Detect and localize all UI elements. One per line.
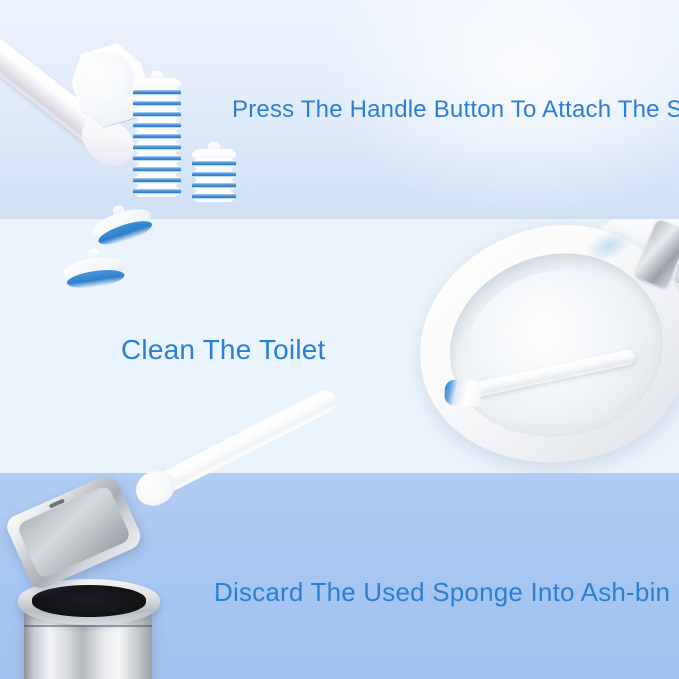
- sponge-disc: [133, 98, 181, 109]
- sponge-disc: [192, 191, 236, 202]
- sponge-disc: [133, 131, 181, 142]
- step-caption-attach: Press The Handle Button To Attach The Sp…: [232, 98, 679, 122]
- sponge-refill-stack-tall: [133, 78, 181, 208]
- sponge-disc: [192, 180, 236, 191]
- attached-sponge-pad: [444, 379, 481, 406]
- sponge-refill-stack-short: [192, 149, 236, 209]
- step-caption-clean: Clean The Toilet: [121, 336, 326, 364]
- sponge-disc: [192, 169, 236, 180]
- sponge-disc: [133, 120, 181, 131]
- sponge-disc: [133, 109, 181, 120]
- sponge-disc: [133, 153, 181, 164]
- step-panel-discard: [0, 473, 679, 679]
- sponge-disc: [133, 164, 181, 175]
- sponge-disc: [133, 87, 181, 98]
- toilet-bowl-icon: [405, 219, 679, 473]
- product-instruction-infographic: Press The Handle Button To Attach The Sp…: [0, 0, 679, 679]
- trash-can-opening: [32, 585, 146, 617]
- sponge-disc: [133, 186, 181, 197]
- sponge-disc: [133, 175, 181, 186]
- trash-can-seam: [24, 625, 152, 627]
- step-caption-discard: Discard The Used Sponge Into Ash-bin: [214, 579, 670, 605]
- sponge-disc: [133, 142, 181, 153]
- sponge-disc: [192, 158, 236, 169]
